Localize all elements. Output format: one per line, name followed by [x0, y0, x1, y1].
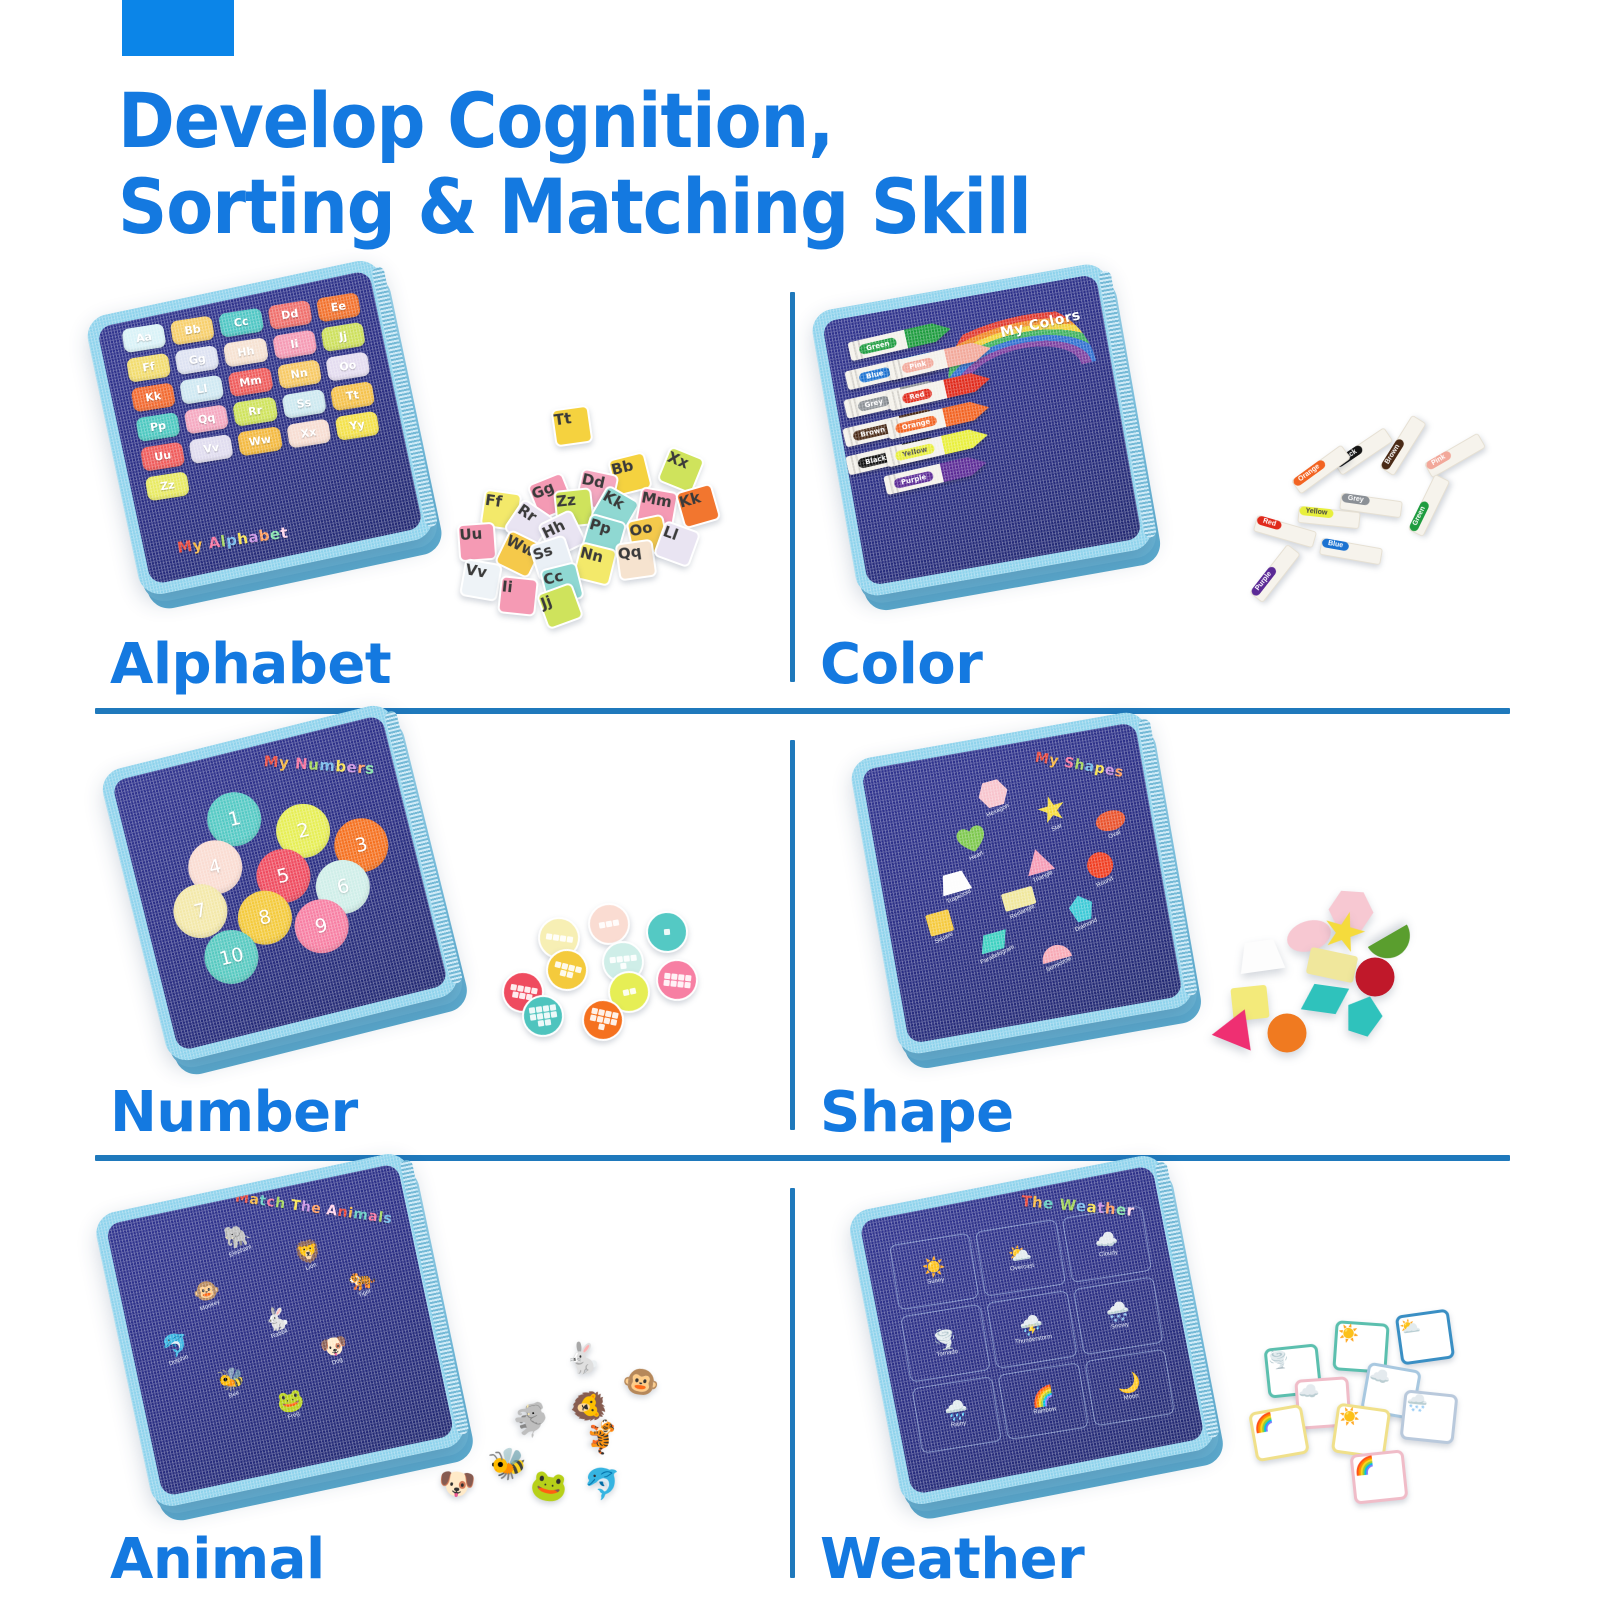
alphabet-tile[interactable]: Gg — [175, 345, 220, 375]
weather-card[interactable]: ⛅ — [1395, 1308, 1455, 1365]
shape-trapezoid[interactable]: Trapezoid — [938, 869, 972, 896]
alphabet-tile[interactable]: Kk — [131, 382, 176, 412]
weather-board: ☀️Sunny⛅Overcast☁️Cloudy🌪️Tornado⛈️Thund… — [889, 1206, 1175, 1455]
crayon-tip — [904, 319, 953, 348]
weather-label: Moon — [1123, 1394, 1139, 1402]
animal-loose-pieces: 🐇🐵🦁🐘🐅🐝🐶🐸🐬 — [400, 1330, 740, 1550]
animal-loose-piece[interactable]: 🐬 — [583, 1469, 622, 1502]
alphabet-tile[interactable]: Ll — [180, 374, 225, 404]
shape-piece-circ[interactable] — [1356, 958, 1395, 997]
book-body: 12345678910My Numbers — [98, 701, 462, 1065]
alphabet-tile[interactable]: Mm — [228, 367, 273, 397]
divider-vertical-row-3 — [790, 1188, 795, 1578]
crayon-label: Orange — [894, 414, 938, 433]
book-cover: HexagonStarHeartOvalTrapezoidTriangleRou… — [848, 709, 1196, 1057]
shape-loose-piece[interactable] — [1237, 938, 1286, 974]
animal-bee[interactable]: 🐝Bee — [216, 1366, 249, 1400]
animal-tiger-piece-icon[interactable]: 🐅 — [588, 1417, 622, 1457]
book-title-alphabet: My Alphabet — [176, 523, 289, 556]
crayon-piece[interactable]: Pink — [1424, 433, 1486, 479]
crayon-tip — [943, 369, 992, 398]
alphabet-tile[interactable]: Vv — [189, 434, 234, 464]
weather-snowy[interactable]: 🌨️Snowy — [1073, 1277, 1164, 1355]
alphabet-tile[interactable]: Yy — [335, 410, 380, 440]
book-number: 12345678910My Numbers — [130, 733, 430, 1033]
divider-horizontal-2 — [95, 1155, 1510, 1161]
alphabet-tile[interactable]: Ss — [282, 389, 327, 419]
crayon-tip — [942, 398, 991, 427]
animal-loose-piece[interactable]: 🐶 — [437, 1468, 477, 1502]
weather-label: Tornado — [936, 1349, 958, 1358]
weather-overcast[interactable]: ⛅Overcast — [975, 1219, 1066, 1297]
weather-label: Rainy — [950, 1421, 966, 1429]
weather-label: Sunny — [927, 1278, 945, 1287]
animal-loose-piece[interactable]: 🐅 — [588, 1417, 622, 1457]
alphabet-tile[interactable]: Uu — [141, 441, 186, 471]
crayon-piece-wrap[interactable]: Green — [1408, 474, 1450, 537]
shape-semicircle[interactable]: Semicircle — [1039, 941, 1072, 964]
letter-tile[interactable]: Vv — [459, 558, 503, 602]
page-title-line-2: Sorting & Matching Skill — [118, 164, 1418, 250]
animal-loose-piece[interactable]: 🐝 — [487, 1446, 531, 1484]
shape-loose-pieces — [1212, 888, 1512, 1098]
book-animal: 🐘Elephant🦁Lion🐵Monkey🐅Tiger🐬Dolphin🐇Rabb… — [120, 1180, 440, 1480]
crayon-label: Yellow — [895, 442, 935, 461]
alphabet-tile[interactable]: Pp — [136, 412, 181, 442]
book-face: ☀️Sunny⛅Overcast☁️Cloudy🌪️Tornado⛈️Thund… — [859, 1165, 1205, 1495]
letter-tile-piece[interactable]: Qq — [615, 539, 658, 582]
panel-color: GreenBlueGreyBrownBlackPinkRedOrangeYell… — [812, 285, 1512, 705]
alphabet-tile[interactable]: Qq — [184, 404, 229, 434]
crayon-label: Grey — [857, 395, 891, 412]
shape-glyph-star — [1034, 793, 1069, 828]
crayon-wrapper: Green — [847, 330, 908, 362]
number-disc[interactable] — [519, 992, 566, 1039]
color-loose-pieces: BlackBrownPinkOrangeGreyGreenYellowRedBl… — [1212, 425, 1512, 625]
animal-lion[interactable]: 🦁Lion — [292, 1239, 325, 1273]
book-weather: ☀️Sunny⛅Overcast☁️Cloudy🌪️Tornado⛈️Thund… — [872, 1180, 1192, 1480]
crayon-label: Green — [858, 336, 897, 354]
weather-card[interactable]: 🌈 — [1248, 1404, 1310, 1463]
shape-loose-piece[interactable] — [1268, 1014, 1307, 1053]
alphabet-tile[interactable]: Ww — [238, 426, 283, 456]
shape-triangle[interactable]: Triangle — [1021, 846, 1055, 877]
accent-square — [122, 0, 234, 56]
crayon-piece-wrap[interactable]: Pink — [1424, 433, 1486, 479]
alphabet-tile[interactable]: Oo — [326, 351, 371, 381]
shape-square[interactable]: Square — [925, 909, 954, 937]
alphabet-tile-grid: AaBbCcDdEeFfGgHhIiJjKkLlMmNnOoPpQqRrSsTt… — [122, 292, 385, 501]
panel-weather: ☀️Sunny⛅Overcast☁️Cloudy🌪️Tornado⛈️Thund… — [812, 1180, 1512, 1600]
crayon-label: Pink — [901, 356, 934, 373]
book-shape: HexagonStarHeartOvalTrapezoidTriangleRou… — [872, 733, 1172, 1033]
shape-board: HexagonStarHeartOvalTrapezoidTriangleRou… — [861, 722, 1183, 1044]
animal-elephant[interactable]: 🐘Elephant — [222, 1223, 255, 1257]
crayon-piece-wrap[interactable]: Purple — [1249, 544, 1301, 603]
book-cover: GreenBlueGreyBrownBlackPinkRedOrangeYell… — [809, 261, 1155, 599]
infographic-page: Develop Cognition, Sorting & Matching Sk… — [0, 0, 1601, 1601]
number-disc[interactable] — [654, 957, 700, 1003]
panel-label-number: Number — [110, 1085, 358, 1141]
weather-tornado[interactable]: 🌪️Tornado — [900, 1304, 991, 1382]
letter-tile[interactable]: Tt — [551, 405, 594, 448]
alphabet-tile[interactable]: Ff — [126, 353, 171, 383]
letter-tile[interactable]: Ii — [497, 575, 539, 617]
alphabet-tile[interactable]: Ii — [272, 329, 317, 359]
panel-label-animal: Animal — [110, 1532, 325, 1588]
book-body: HexagonStarHeartOvalTrapezoidTriangleRou… — [848, 709, 1196, 1057]
panel-label-weather: Weather — [820, 1532, 1084, 1588]
animal-dog-piece-icon[interactable]: 🐶 — [437, 1468, 477, 1502]
animal-loose-piece[interactable]: 🐇 — [563, 1342, 603, 1376]
shape-diamond[interactable]: Diamond — [1066, 893, 1096, 925]
shape-parallelogram[interactable]: Parallelogram — [977, 929, 1011, 955]
alphabet-tile[interactable]: Cc — [219, 308, 264, 338]
weather-card[interactable]: 🌈 — [1350, 1449, 1409, 1504]
crayon-piece[interactable]: Purple — [1249, 544, 1301, 603]
animal-loose-piece[interactable]: 🐵 — [620, 1366, 661, 1401]
letter-tile-piece[interactable]: Vv — [459, 558, 503, 602]
shape-oval[interactable]: Oval — [1094, 807, 1128, 834]
divider-vertical-row-1 — [790, 292, 795, 682]
book-body: AaBbCcDdEeFfGgHhIiJjKkLlMmNnOoPpQqRrSsTt… — [84, 257, 437, 598]
shape-label: Oval — [1108, 830, 1122, 841]
number-disc[interactable] — [542, 945, 593, 996]
crayon-piece-wrap[interactable]: Blue — [1319, 538, 1383, 566]
panel-label-color: Color — [820, 637, 982, 693]
animal-dog[interactable]: 🐶Dog — [318, 1333, 351, 1367]
book-body: ☀️Sunny⛅Overcast☁️Cloudy🌪️Tornado⛈️Thund… — [846, 1152, 1217, 1508]
animal-loose-piece[interactable]: 🐘 — [510, 1398, 551, 1443]
divider-vertical-row-2 — [790, 740, 795, 1130]
weather-label: Snowy — [1111, 1322, 1130, 1331]
crayon-tip — [940, 453, 989, 482]
letter-tile[interactable]: Qq — [615, 539, 658, 582]
animal-monkey-piece-icon[interactable]: 🐵 — [620, 1366, 661, 1401]
animal-elephant-piece-icon[interactable]: 🐘 — [510, 1398, 551, 1443]
weather-card-piece[interactable]: ⛅ — [1395, 1308, 1455, 1365]
number-disc-piece[interactable] — [519, 992, 566, 1039]
crayon-tip — [944, 339, 993, 368]
letter-tile[interactable]: Uu — [457, 522, 498, 563]
number-disc-piece[interactable] — [645, 910, 690, 955]
shape-label: Heart — [969, 850, 985, 862]
shape-label: Star — [1051, 823, 1064, 833]
alphabet-tile[interactable]: Zz — [145, 471, 190, 501]
letter-tile-piece[interactable]: Ii — [497, 575, 539, 617]
weather-rainy[interactable]: 🌧️Rainy — [912, 1376, 1003, 1454]
crayon-piece-label: Orange — [1292, 459, 1327, 488]
panel-animal: 🐘Elephant🦁Lion🐵Monkey🐅Tiger🐬Dolphin🐇Rabb… — [100, 1180, 780, 1600]
letter-tile-piece[interactable]: Uu — [457, 522, 498, 563]
alphabet-tile[interactable]: Ee — [316, 292, 361, 322]
number-loose-pieces — [460, 883, 760, 1083]
crayon-piece-label: Pink — [1425, 450, 1453, 471]
crayon-piece-label: Red — [1256, 515, 1283, 531]
number-disc[interactable] — [645, 910, 690, 955]
shape-piece-para[interactable] — [1301, 983, 1349, 1016]
animal-rabbit[interactable]: 🐇Rabbit — [261, 1306, 294, 1340]
weather-card-piece[interactable]: 🌈 — [1350, 1449, 1409, 1504]
panel-shape: HexagonStarHeartOvalTrapezoidTriangleRou… — [812, 733, 1512, 1153]
crayon-board: GreenBlueGreyBrownBlackPinkRedOrangeYell… — [822, 274, 1142, 586]
animal-monkey[interactable]: 🐵Monkey — [191, 1278, 224, 1312]
alphabet-tile[interactable]: Rr — [233, 396, 278, 426]
weather-card-piece[interactable]: 🌨️ — [1400, 1389, 1459, 1444]
divider-horizontal-1 — [95, 708, 1510, 714]
crayon-label: Blue — [858, 366, 891, 383]
panel-label-alphabet: Alphabet — [110, 637, 391, 693]
alphabet-tile[interactable]: Dd — [268, 300, 313, 330]
weather-moon-icon: 🌙 — [1116, 1373, 1142, 1395]
panel-number: 12345678910My NumbersNumber — [100, 733, 780, 1153]
number-disc-piece[interactable] — [654, 957, 700, 1003]
alphabet-tile[interactable]: Bb — [170, 315, 215, 345]
letter-tile-piece[interactable]: Tt — [551, 405, 594, 448]
page-title: Develop Cognition, Sorting & Matching Sk… — [118, 78, 1418, 250]
animal-tiger[interactable]: 🐅Tiger — [347, 1265, 380, 1299]
shape-loose-piece[interactable] — [1301, 983, 1349, 1016]
animal-rabbit-piece-icon[interactable]: 🐇 — [563, 1342, 603, 1376]
weather-sunny[interactable]: ☀️Sunny — [889, 1233, 980, 1311]
crayon-label: Purple — [893, 470, 934, 489]
animal-bee-piece-icon[interactable]: 🐝 — [487, 1446, 531, 1484]
animal-dolphin[interactable]: 🐬Dolphin — [160, 1333, 193, 1367]
shape-loose-piece[interactable] — [1356, 958, 1395, 997]
shape-glyph-heart — [955, 824, 989, 856]
book-face: GreenBlueGreyBrownBlackPinkRedOrangeYell… — [822, 274, 1142, 586]
book-color: GreenBlueGreyBrownBlackPinkRedOrangeYell… — [832, 285, 1132, 575]
book-alphabet: AaBbCcDdEeFfGgHhIiJjKkLlMmNnOoPpQqRrSsTt… — [110, 285, 410, 570]
alphabet-tile[interactable]: Aa — [122, 323, 167, 353]
page-title-line-1: Develop Cognition, — [118, 78, 1418, 164]
animal-loose-piece[interactable]: 🐸 — [528, 1469, 570, 1505]
weather-label: Cloudy — [1099, 1250, 1118, 1259]
shape-piece-circ[interactable] — [1268, 1014, 1307, 1053]
shape-star[interactable]: Star — [1034, 793, 1069, 828]
weather-moon[interactable]: 🌙Moon — [1084, 1349, 1175, 1427]
alphabet-tile[interactable]: Tt — [330, 381, 375, 411]
weather-thunderstorm[interactable]: ⛈️Thunderstorm — [987, 1291, 1078, 1369]
alphabet-loose-pieces: TtBbXxDdGgFfZzKkMmKkRrHhPpOoUuWwSsNnQqLl… — [400, 405, 780, 645]
crayon-piece-label: Purple — [1250, 565, 1278, 597]
book-face: HexagonStarHeartOvalTrapezoidTriangleRou… — [861, 722, 1183, 1044]
shape-glyph-oval — [1094, 807, 1128, 834]
animal-frog-piece-icon[interactable]: 🐸 — [528, 1469, 570, 1505]
panel-alphabet: AaBbCcDdEeFfGgHhIiJjKkLlMmNnOoPpQqRrSsTt… — [100, 285, 780, 705]
panel-label-shape: Shape — [820, 1085, 1014, 1141]
alphabet-tile[interactable]: Hh — [224, 337, 269, 367]
crayon-piece-label: Green — [1408, 500, 1430, 533]
alphabet-tile[interactable]: Nn — [277, 359, 322, 389]
shape-round[interactable]: Round — [1084, 849, 1116, 881]
crayon-piece-label: Grey — [1341, 493, 1370, 506]
shape-heart[interactable]: Heart — [955, 824, 989, 856]
crayon-tip — [941, 426, 990, 455]
crayon-piece-label: Blue — [1321, 538, 1349, 552]
weather-card-piece[interactable]: 🌈 — [1248, 1404, 1310, 1463]
book-body: GreenBlueGreyBrownBlackPinkRedOrangeYell… — [809, 261, 1155, 599]
weather-loose-pieces: ⛅☀️🌪️☁️☁️🌨️🌈☀️🌈 — [1212, 1300, 1512, 1560]
alphabet-tile[interactable]: Xx — [286, 418, 331, 448]
weather-card[interactable]: 🌨️ — [1400, 1389, 1459, 1444]
animal-frog[interactable]: 🐸Frog — [275, 1388, 308, 1422]
shape-hexagon[interactable]: Hexagon — [975, 777, 1011, 810]
crayon-piece-label: Yellow — [1299, 506, 1334, 518]
crayon-piece[interactable]: Blue — [1319, 538, 1383, 566]
crayon-wrapper: Purple — [883, 464, 944, 496]
number-disc[interactable] — [578, 995, 628, 1045]
shape-piece-trap[interactable] — [1237, 938, 1286, 974]
alphabet-tile[interactable]: Jj — [321, 322, 366, 352]
shape-rectangle[interactable]: Rectangle — [1001, 885, 1037, 911]
weather-rainbow[interactable]: 🌈Rainbow — [998, 1362, 1089, 1440]
crayon-piece[interactable]: Green — [1408, 474, 1450, 537]
crayon-label: Red — [902, 387, 933, 403]
number-disc-piece[interactable] — [578, 995, 628, 1045]
animal-dolphin-piece-icon[interactable]: 🐬 — [583, 1469, 622, 1502]
number-disc-piece[interactable] — [542, 945, 593, 996]
book-face: AaBbCcDdEeFfGgHhIiJjKkLlMmNnOoPpQqRrSsTt… — [97, 270, 424, 585]
